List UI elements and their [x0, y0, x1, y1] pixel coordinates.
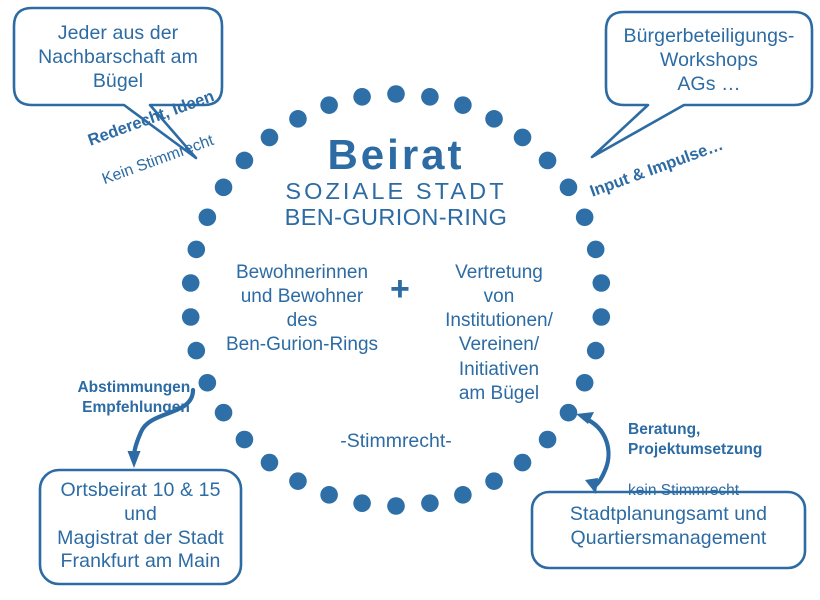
annotation-beratung-bold: Beratung, Projektumsetzung [628, 420, 820, 460]
ring-dot [215, 179, 233, 197]
ring-column-residents: Bewohnerinnen und Bewohner des Ben-Gurio… [218, 261, 386, 358]
arrow-beratung [576, 412, 608, 494]
ring-dot [576, 374, 594, 392]
ring-dot [289, 472, 307, 490]
ring-subtitle-ben-gurion-ring: BEN-GURION-RING [276, 203, 516, 232]
bubble-text-top-right: Bürgerbeteiligungs- Workshops AGs … [608, 25, 810, 96]
box-text-ortsbeirat: Ortsbeirat 10 & 15 und Magistrat der Sta… [40, 479, 241, 574]
ring-dot [320, 486, 338, 504]
ring-dot [587, 342, 605, 360]
ring-dot [560, 404, 578, 422]
annotation-beratung-regular: kein Stimmrecht [628, 481, 820, 501]
ring-title: Beirat [296, 129, 496, 180]
ring-dot [387, 85, 405, 103]
ring-dot [182, 308, 200, 326]
annotation-input-impulse: Input & Impulse… [580, 101, 771, 222]
ring-dot [539, 431, 557, 449]
ring-column-institutions: Vertretung von Institutionen/ Vereinen/ … [424, 261, 574, 406]
ring-dot [320, 96, 338, 114]
ring-dot [539, 152, 557, 170]
ring-dot [387, 497, 405, 515]
ring-dot [236, 431, 254, 449]
ring-dot [593, 308, 611, 326]
ring-dot [353, 494, 371, 512]
ring-dot [188, 342, 206, 360]
ring-dot [593, 274, 611, 292]
ring-dot [182, 274, 200, 292]
ring-dot [576, 208, 594, 226]
ring-dot [289, 110, 307, 128]
ring-dot [454, 96, 472, 114]
ring-dot [514, 454, 532, 472]
ring-dot [421, 88, 439, 106]
ring-dot [587, 241, 605, 259]
ring-dot [485, 472, 503, 490]
annotation-abstimmungen-bold: Abstimmungen, Empfehlungen [46, 378, 226, 418]
ring-dot [514, 129, 532, 147]
ring-dot [353, 88, 371, 106]
ring-dot [188, 241, 206, 259]
ring-dot [261, 454, 279, 472]
plus-icon: + [390, 272, 410, 306]
annotation-input-impulse-bold: Input & Impulse… [587, 121, 763, 203]
ring-dot [421, 494, 439, 512]
ring-dot [485, 110, 503, 128]
ring-subtitle-soziale-stadt: SOZIALE STADT [276, 177, 516, 206]
annotation-abstimmungen: Abstimmungen, Empfehlungen [46, 358, 226, 439]
ring-dot [199, 208, 217, 226]
ring-dot [454, 486, 472, 504]
diagram-canvas: Jeder aus der Nachbarschaft am Bügel Red… [0, 0, 820, 600]
ring-footer-stimmrecht: -Stimmrecht- [306, 430, 486, 454]
ring-dot [560, 179, 578, 197]
box-text-stadtplanungsamt: Stadtplanungsamt und Quartiersmanagement [532, 503, 805, 551]
